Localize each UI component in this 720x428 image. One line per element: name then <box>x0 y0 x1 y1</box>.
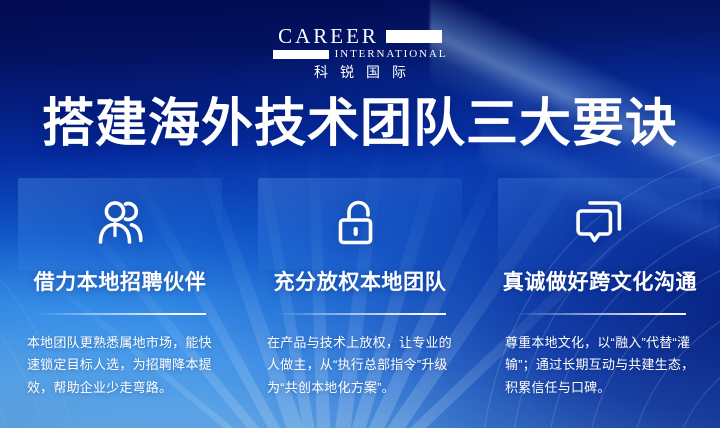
feature-card-1: 借力本地招聘伙伴 本地团队更熟悉属地市场，能快速锁定目标人选，为招聘降本提效，帮… <box>0 178 240 408</box>
brand-logo: CAREER INTERNATIONAL 科锐国际 <box>0 26 720 79</box>
card-heading: 充分放权本地团队 <box>274 266 447 296</box>
logo-primary-row: CAREER <box>278 26 442 47</box>
card-divider <box>514 313 686 315</box>
card-divider <box>274 313 446 315</box>
card-body-text: 在产品与技术上放权，让专业的人做主，从“执行总部指令”升级为“共创本地化方案”。 <box>267 332 453 399</box>
card-body-text: 本地团队更熟悉属地市场，能快速锁定目标人选，为招聘降本提效，帮助企业少走弯路。 <box>27 332 213 399</box>
card-body-text: 尊重本地文化，以“融入”代替“灌输”；通过长期互动与共建生态，积累信任与口碑。 <box>505 332 695 399</box>
feature-card-2: 充分放权本地团队 在产品与技术上放权，让专业的人做主，从“执行总部指令”升级为“… <box>240 178 480 408</box>
logo-chinese-name: 科锐国际 <box>302 65 418 79</box>
unlocked-padlock-icon <box>332 194 388 250</box>
chat-bubbles-icon <box>572 194 628 250</box>
feature-cards: 借力本地招聘伙伴 本地团队更熟悉属地市场，能快速锁定目标人选，为招聘降本提效，帮… <box>0 178 720 408</box>
poster-title: 搭建海外技术团队三大要诀 <box>0 96 720 152</box>
logo-bar-right <box>386 30 442 43</box>
poster-canvas: CAREER INTERNATIONAL 科锐国际 搭建海外技术团队三大要诀 <box>0 0 720 428</box>
card-divider <box>34 313 206 315</box>
logo-bar-left <box>273 50 329 59</box>
logo-secondary-row: INTERNATIONAL <box>273 49 448 60</box>
feature-card-3: 真诚做好跨文化沟通 尊重本地文化，以“融入”代替“灌输”；通过长期互动与共建生态… <box>480 178 720 408</box>
card-heading: 借力本地招聘伙伴 <box>34 266 207 296</box>
logo-international-text: INTERNATIONAL <box>335 49 448 60</box>
card-heading: 真诚做好跨文化沟通 <box>503 266 697 296</box>
logo-career-text: CAREER <box>278 26 379 47</box>
two-people-icon <box>92 194 148 250</box>
